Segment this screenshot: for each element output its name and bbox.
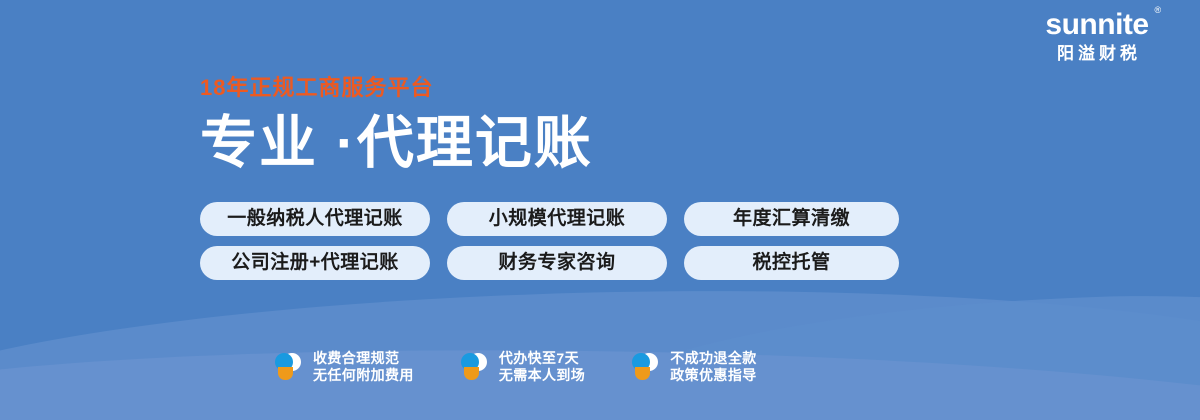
brand-logo[interactable]: sunnite ® 阳溢财税	[1012, 8, 1182, 64]
wave-band-upper	[0, 277, 1200, 420]
circle-cup-icon	[274, 351, 304, 383]
feature-text: 代办快至7天 无需本人到场	[499, 350, 585, 384]
feature-line-2: 无任何附加费用	[313, 367, 414, 384]
feature-strip: 收费合理规范 无任何附加费用 代办快至7天 无需本人到场 不成功退全款	[274, 350, 757, 384]
feature-line-1: 代办快至7天	[499, 350, 585, 367]
logo-wordmark-text: sunnite	[1045, 8, 1148, 41]
feature-item: 收费合理规范 无任何附加费用	[274, 350, 414, 384]
service-pill[interactable]: 公司注册+代理记账	[200, 246, 430, 280]
logo-chinese-name: 阳溢财税	[1012, 44, 1182, 64]
feature-line-2: 无需本人到场	[499, 367, 585, 384]
service-pill[interactable]: 小规模代理记账	[447, 202, 667, 236]
promo-banner: sunnite ® 阳溢财税 18年正规工商服务平台 专业 ·代理记账 一般纳税…	[0, 0, 1200, 420]
feature-text: 不成功退全款 政策优惠指导	[670, 350, 756, 384]
service-pill[interactable]: 税控托管	[684, 246, 899, 280]
feature-line-1: 不成功退全款	[670, 350, 756, 367]
circle-cup-icon-base	[278, 367, 293, 380]
page-title: 专业 ·代理记账	[200, 110, 593, 176]
circle-cup-icon-base	[464, 367, 479, 380]
feature-line-2: 政策优惠指导	[670, 367, 756, 384]
service-pill-grid: 一般纳税人代理记账 小规模代理记账 年度汇算清缴 公司注册+代理记账 财务专家咨…	[200, 202, 899, 280]
circle-cup-icon-base	[635, 367, 650, 380]
feature-item: 代办快至7天 无需本人到场	[460, 350, 585, 384]
circle-cup-icon	[460, 351, 490, 383]
registered-trademark-icon: ®	[1154, 6, 1160, 15]
feature-item: 不成功退全款 政策优惠指导	[631, 350, 756, 384]
logo-wordmark: sunnite ®	[1045, 8, 1148, 42]
eyebrow-text: 18年正规工商服务平台	[200, 74, 593, 102]
feature-text: 收费合理规范 无任何附加费用	[313, 350, 414, 384]
feature-line-1: 收费合理规范	[313, 350, 414, 367]
service-pill[interactable]: 年度汇算清缴	[684, 202, 899, 236]
service-pill[interactable]: 一般纳税人代理记账	[200, 202, 430, 236]
headline-block: 18年正规工商服务平台 专业 ·代理记账	[200, 74, 593, 176]
circle-cup-icon	[631, 351, 661, 383]
service-pill[interactable]: 财务专家咨询	[447, 246, 667, 280]
